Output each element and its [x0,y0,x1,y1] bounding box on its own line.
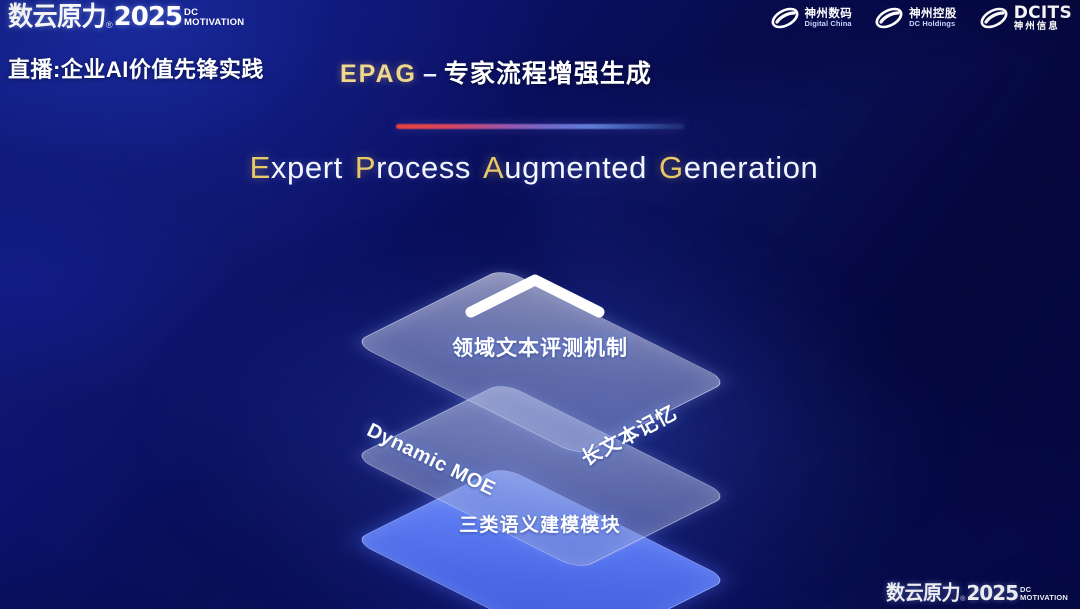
title-divider [396,124,684,129]
brand-dc-motivation: DC MOTIVATION [1020,586,1068,603]
subtitle-word-process: Process [355,150,471,185]
subtitle-word-generation: Generation [659,150,818,185]
subtitle-expansion: ExpertProcessAugmentedGeneration [0,150,1080,186]
background-gradient [0,0,1080,609]
subtitle-rest: eneration [684,150,819,185]
subtitle-rest: ugmented [504,150,647,185]
slide-canvas: 数云原力 ® 2025 DC MOTIVATION 神州数码 Digital C… [0,0,1080,609]
subtitle-initial: G [659,150,684,185]
subtitle-initial: A [483,150,504,185]
subtitle-rest: xpert [271,150,343,185]
brand-year: 2025 [966,583,1018,603]
brand-name-cn: 数云原力 [886,583,960,603]
title-dash: – [423,60,438,88]
title-chinese: 专家流程增强生成 [444,60,652,88]
page-title: EPAG–专家流程增强生成 [340,54,652,90]
subtitle-initial: P [355,150,376,185]
subtitle-word-augmented: Augmented [483,150,647,185]
watermark-brand-logo: 数云原力 ® 2025 DC MOTIVATION [886,583,1068,603]
subtitle-initial: E [250,150,271,185]
registered-mark: ® [960,596,965,603]
title-abbreviation: EPAG [340,60,417,88]
live-stream-tag: 直播:企业AI价值先锋实践 [8,52,264,84]
brand-motivation: MOTIVATION [1020,594,1068,602]
subtitle-word-expert: Expert [250,150,343,185]
subtitle-rest: rocess [376,150,471,185]
